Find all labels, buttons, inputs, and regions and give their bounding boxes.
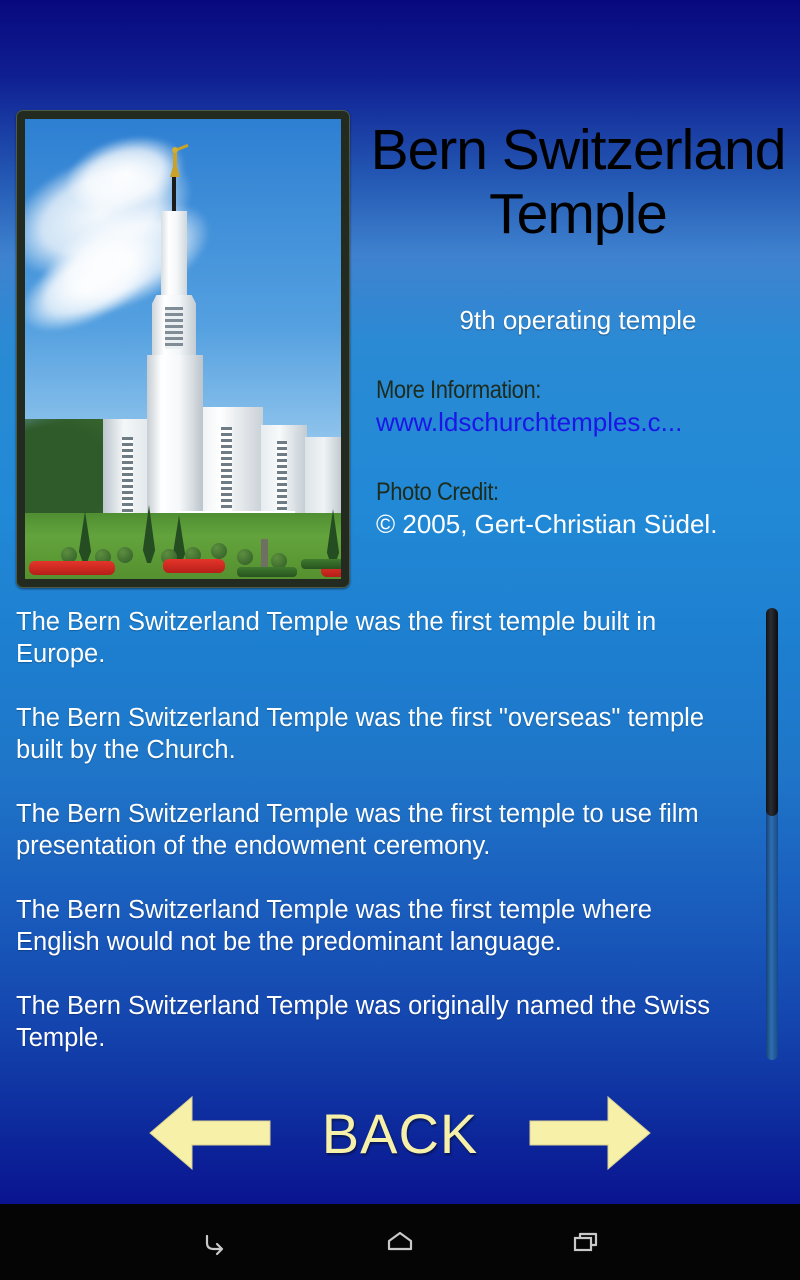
fact-item: The Bern Switzerland Temple was the firs…: [16, 798, 738, 862]
info-block: More Information: www.ldschurchtemples.c…: [376, 376, 796, 540]
photo-bush: [211, 543, 227, 559]
photo-window-column: [277, 441, 287, 515]
back-button[interactable]: BACK: [322, 1101, 479, 1166]
previous-arrow-button[interactable]: [146, 1093, 274, 1173]
photo-credit-value: © 2005, Gert-Christian Südel.: [376, 509, 796, 540]
temple-photo: [25, 119, 341, 579]
temple-info-screen: Bern Switzerland Temple 9th operating te…: [0, 0, 800, 1280]
header-block: Bern Switzerland Temple: [360, 118, 796, 246]
photo-flowerbed: [163, 559, 225, 573]
facts-list: The Bern Switzerland Temple was the firs…: [0, 596, 800, 1054]
android-back-icon[interactable]: [191, 1219, 237, 1265]
info-spacer: [376, 438, 796, 478]
android-home-icon[interactable]: [377, 1219, 423, 1265]
next-arrow-button[interactable]: [526, 1093, 654, 1173]
photo-hedge: [301, 559, 341, 569]
fact-item: The Bern Switzerland Temple was the firs…: [16, 702, 738, 766]
photo-bush: [237, 549, 253, 565]
photo-spire-tip: [172, 177, 176, 215]
photo-hedge: [237, 567, 297, 577]
android-system-bar: [0, 1204, 800, 1280]
temple-photo-frame[interactable]: [16, 110, 350, 588]
photo-window-column: [122, 437, 133, 515]
photo-flowerbed: [29, 561, 115, 575]
fact-item: The Bern Switzerland Temple was the firs…: [16, 606, 738, 670]
facts-scroll-area[interactable]: The Bern Switzerland Temple was the firs…: [0, 596, 800, 1064]
more-information-label: More Information:: [376, 376, 746, 405]
angel-moroni-statue: [164, 145, 186, 179]
photo-spire-upper: [161, 211, 187, 297]
page-subtitle: 9th operating temple: [360, 305, 796, 336]
photo-temple-tower: [147, 355, 203, 531]
android-recents-icon[interactable]: [563, 1219, 609, 1265]
page-title: Bern Switzerland Temple: [360, 118, 796, 246]
scrollbar-track[interactable]: [766, 608, 778, 1060]
photo-spire-window: [165, 307, 183, 349]
photo-bush: [117, 547, 133, 563]
scrollbar-thumb[interactable]: [766, 608, 778, 816]
photo-credit-label: Photo Credit:: [376, 478, 746, 507]
photo-garden-post: [261, 539, 268, 569]
fact-item: The Bern Switzerland Temple was the firs…: [16, 894, 738, 958]
bottom-navigation: BACK: [0, 1070, 800, 1196]
photo-window-column: [221, 427, 232, 511]
fact-item: The Bern Switzerland Temple was original…: [16, 990, 738, 1054]
more-information-link[interactable]: www.ldschurchtemples.c...: [376, 407, 796, 438]
